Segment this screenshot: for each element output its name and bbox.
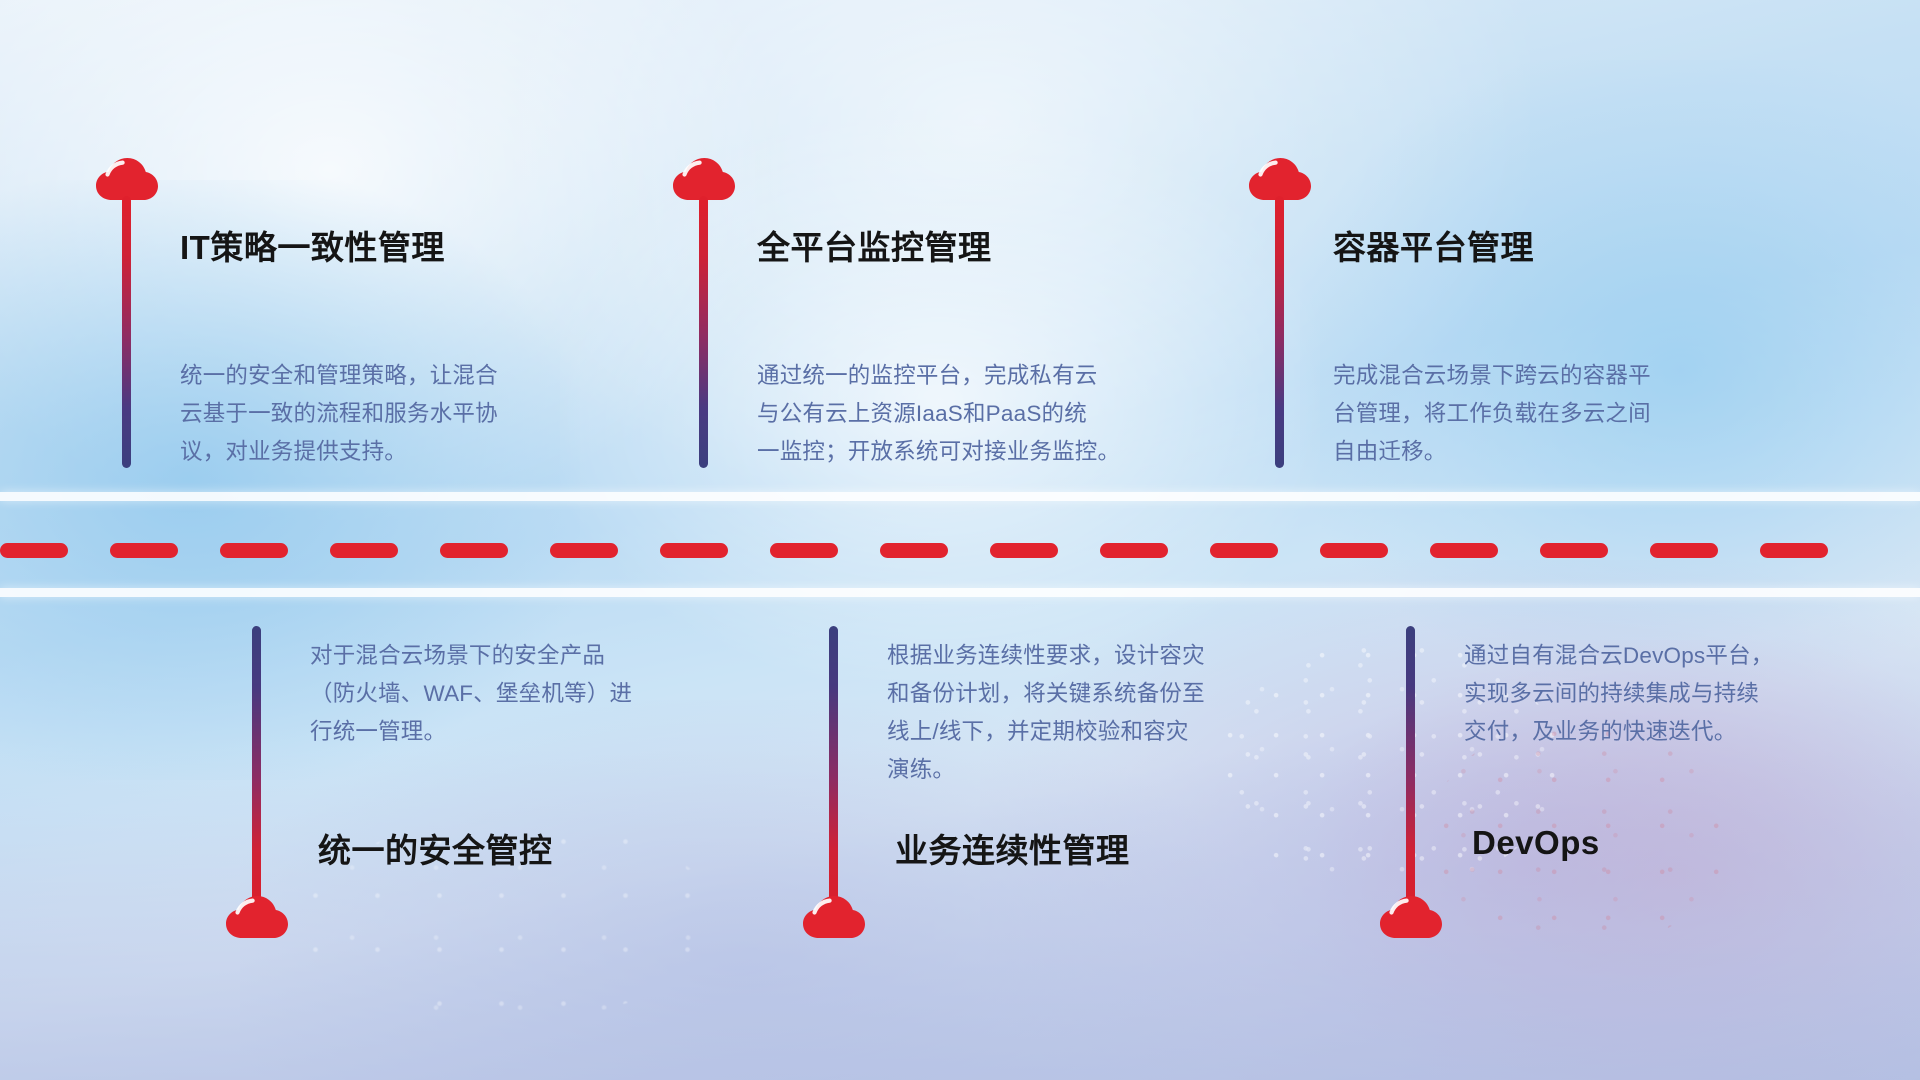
body-line: 根据业务连续性要求，设计容灾 xyxy=(887,637,1205,675)
connector-stem xyxy=(122,196,131,468)
body-line: 与公有云上资源IaaS和PaaS的统 xyxy=(757,395,1120,433)
dash-segment xyxy=(880,543,948,558)
dash-segment xyxy=(1540,543,1608,558)
dash-segment xyxy=(1650,543,1718,558)
body-line: 和备份计划，将关键系统备份至 xyxy=(887,675,1205,713)
body-line: 实现多云间的持续集成与持续 xyxy=(1464,675,1773,713)
dash-segment xyxy=(990,543,1058,558)
card-body: 通过自有混合云DevOps平台， 实现多云间的持续集成与持续 交付，及业务的快速… xyxy=(1464,637,1773,751)
body-line: （防火墙、WAF、堡垒机等）进 xyxy=(310,675,632,713)
dashed-divider xyxy=(0,543,1920,558)
dash-segment xyxy=(1210,543,1278,558)
card-body: 根据业务连续性要求，设计容灾 和备份计划，将关键系统备份至 线上/线下，并定期校… xyxy=(887,637,1205,789)
body-line: 演练。 xyxy=(887,751,1205,789)
body-line: 通过统一的监控平台，完成私有云 xyxy=(757,357,1120,395)
card-title: DevOps xyxy=(1472,824,1600,862)
dash-segment xyxy=(1100,543,1168,558)
dash-segment xyxy=(330,543,398,558)
cloud-icon xyxy=(1380,896,1442,940)
cloud-icon xyxy=(803,896,865,940)
dash-segment xyxy=(0,543,68,558)
body-line: 通过自有混合云DevOps平台， xyxy=(1464,637,1773,675)
dash-segment xyxy=(660,543,728,558)
body-line: 交付，及业务的快速迭代。 xyxy=(1464,713,1773,751)
dash-segment xyxy=(1760,543,1828,558)
divider-band-top xyxy=(0,492,1920,501)
dash-segment xyxy=(550,543,618,558)
card-body: 完成混合云场景下跨云的容器平 台管理，将工作负载在多云之间 自由迁移。 xyxy=(1333,357,1651,471)
connector-stem xyxy=(699,196,708,468)
infographic-canvas: IT策略一致性管理 统一的安全和管理策略，让混合 云基于一致的流程和服务水平协 … xyxy=(0,0,1920,1080)
card-body: 统一的安全和管理策略，让混合 云基于一致的流程和服务水平协 议，对业务提供支持。 xyxy=(180,357,498,471)
body-line: 议，对业务提供支持。 xyxy=(180,433,498,471)
body-line: 对于混合云场景下的安全产品 xyxy=(310,637,632,675)
dash-segment xyxy=(440,543,508,558)
dash-segment xyxy=(110,543,178,558)
card-body: 对于混合云场景下的安全产品 （防火墙、WAF、堡垒机等）进 行统一管理。 xyxy=(310,637,632,751)
connector-stem xyxy=(829,626,838,904)
connector-stem xyxy=(1275,196,1284,468)
card-title: 全平台监控管理 xyxy=(757,221,992,269)
card-title: 业务连续性管理 xyxy=(895,824,1130,872)
card-title: IT策略一致性管理 xyxy=(180,221,445,269)
dash-segment xyxy=(220,543,288,558)
cloud-icon xyxy=(226,896,288,940)
body-line: 完成混合云场景下跨云的容器平 xyxy=(1333,357,1651,395)
card-title: 容器平台管理 xyxy=(1333,221,1534,269)
body-line: 统一的安全和管理策略，让混合 xyxy=(180,357,498,395)
body-line: 一监控；开放系统可对接业务监控。 xyxy=(757,433,1120,471)
body-line: 台管理，将工作负载在多云之间 xyxy=(1333,395,1651,433)
card-body: 通过统一的监控平台，完成私有云 与公有云上资源IaaS和PaaS的统 一监控；开… xyxy=(757,357,1120,471)
body-line: 自由迁移。 xyxy=(1333,433,1651,471)
body-line: 线上/线下，并定期校验和容灾 xyxy=(887,713,1205,751)
divider-band-bottom xyxy=(0,588,1920,597)
connector-stem xyxy=(1406,626,1415,904)
dash-segment xyxy=(1430,543,1498,558)
body-line: 云基于一致的流程和服务水平协 xyxy=(180,395,498,433)
body-line: 行统一管理。 xyxy=(310,713,632,751)
connector-stem xyxy=(252,626,261,904)
dash-segment xyxy=(1320,543,1388,558)
card-title: 统一的安全管控 xyxy=(318,824,553,872)
dash-segment xyxy=(770,543,838,558)
